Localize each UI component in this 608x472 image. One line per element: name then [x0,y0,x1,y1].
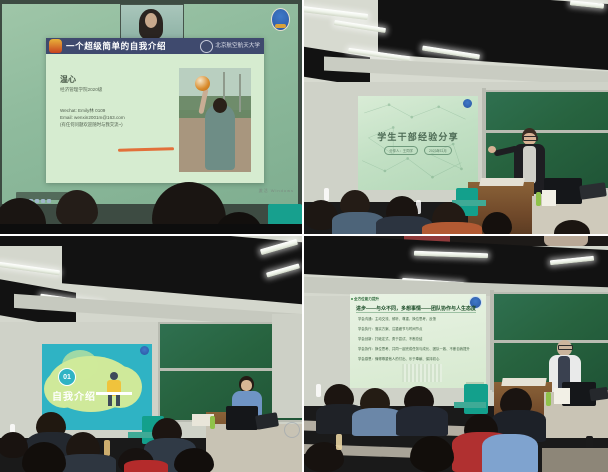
paper-sheet [554,388,570,404]
speaker-shirt [523,146,536,184]
speaker-glasses [523,136,538,141]
audience-head [410,436,454,472]
slide-section-number: 01 [58,368,76,386]
bullet-dot-icon [351,298,353,300]
ribbon-badge-icon [49,39,62,53]
slide-bullet: 学会创新：打破定式、勇于尝试、不断总结 [358,336,422,341]
laptop [226,406,258,430]
slide-bullet: 学会沟通：主动交流、倾听、尊重、换位思考、反馈 [358,316,436,321]
document-camera [589,387,608,401]
taskbar-icon[interactable] [41,199,45,203]
collage-panel-bottom-left: 01 自我介绍 [0,236,302,472]
audience-body [396,406,448,436]
audience-body [124,460,168,472]
green-table [454,402,486,408]
podium-papers [479,178,525,186]
taskbar-icon[interactable] [47,199,51,203]
slide-bullet: 学会感恩：懂得尊重他人的付出、乐于奉献、保持初心 [358,356,439,361]
presenter-photo [179,68,251,172]
audience-body [422,222,482,234]
slide-title-bar: 一个超级简单的自我介绍 北京航空航天大学 [46,38,264,54]
wall-pillar [272,314,302,418]
ceiling-dark-panel [0,236,64,246]
slide-header: 全方位能力提升 [354,297,379,302]
windows-activation-watermark: 激活 Windows [259,188,294,194]
water-bottle [104,440,110,456]
water-bottle [324,188,329,201]
drink-bottle [546,392,551,406]
slide-bullet: 学会执行：落实方案、注重细节与时间节点 [358,326,422,331]
university-seal-icon [200,40,213,53]
presentation-slide: 一个超级简单的自我介绍 北京航空航天大学 温心 经济管理学院2020级 Wech… [46,38,264,183]
slide-tag-date: 2023年11月 [424,146,452,155]
speaker-face [241,380,252,391]
presenter-note: (有任何问题欢迎随时与我交流~) [60,122,123,128]
photo-collage: 一个超级简单的自我介绍 北京航空航天大学 温心 经济管理学院2020级 Wech… [0,0,608,472]
blackboard-frame [490,290,494,390]
slide-title: 学生干部经验分享 [358,130,478,143]
presenter-email: Email: wenxin2001m@163.com [60,115,125,120]
audience-head [56,190,98,228]
water-bottle [336,434,342,450]
drink-bottle [210,416,215,429]
projection-screen-frame: 学生干部经验分享 分享人：王同学 2023年11月 [358,96,478,190]
university-logo: 北京航空航天大学 [200,40,260,53]
video-person-face [145,13,157,28]
audience-head [544,236,588,246]
collage-panel-bottom-right: 全方位能力提升 进步——与众不同，多想事情——团队协作与人生态度 学会沟通：主动… [304,236,608,472]
projection-screen: 一个超级简单的自我介绍 北京航空航天大学 温心 经济管理学院2020级 Wech… [2,4,298,204]
slide-tag-presenter: 分享人：王同学 [384,146,418,155]
university-emblem-icon [140,346,149,355]
orange-underline-mark [118,147,174,151]
audience-body [58,454,116,472]
wall-seal-icon [284,422,300,438]
blackboard-frame [482,88,486,188]
slide-title: 进步——与众不同，多想事情——团队协作与人生态度 [356,305,476,312]
projection-screen-frame: 全方位能力提升 进步——与众不同，多想事情——团队协作与人生态度 学会沟通：主动… [350,294,486,388]
slide-tags: 分享人：王同学 2023年11月 [358,146,478,155]
photo-light-pole [239,74,241,112]
university-emblem-icon [271,8,290,31]
green-cabinet [464,384,488,414]
slide-bullet: 学会协作：换位思考、共同一起完成任务与成长、团队一致、不断自我提升 [358,346,470,351]
slide-rule [356,312,476,313]
slide-decoration [402,364,442,382]
slide-title: 一个超级简单的自我介绍 [66,40,166,52]
drink-bottle [536,192,541,206]
speaker-glasses [558,345,573,350]
desk-row [542,448,608,472]
slide-title: 自我介绍 [52,388,96,403]
presenter-name: 温心 [60,74,76,85]
slide-network-graphic [358,96,478,190]
podium-papers [501,378,546,386]
photo-player-body [205,104,235,170]
projection-screen: 全方位能力提升 进步——与众不同，多想事情——团队协作与人生态度 学会沟通：主动… [350,294,486,388]
projection-screen: 学生干部经验分享 分享人：王同学 2023年11月 [358,96,478,190]
blackboard-divider [484,130,608,133]
collage-panel-top-left: 一个超级简单的自我介绍 北京航空航天大学 温心 经济管理学院2020级 Wech… [0,0,302,234]
blackboard [484,90,608,190]
collage-panel-top-right: 学生干部经验分享 分享人：王同学 2023年11月 [304,0,608,234]
university-name-cn: 北京航空航天大学 [215,43,260,49]
video-call-tile [120,4,184,40]
paper-sheet [542,190,556,206]
audience-body [482,434,538,472]
foreground-shadow [0,224,302,234]
speaker-hand [488,146,496,153]
photo-volleyball [195,76,210,91]
slide-illustration [104,372,126,406]
photo-player-head [213,98,227,113]
presenter-department: 经济管理学院2020级 [60,87,102,93]
slide-body: 温心 经济管理学院2020级 Wechat: Emily林 0109 Email… [46,54,264,183]
water-bottle [316,384,321,397]
presenter-wechat: Wechat: Emily林 0109 [60,108,105,114]
